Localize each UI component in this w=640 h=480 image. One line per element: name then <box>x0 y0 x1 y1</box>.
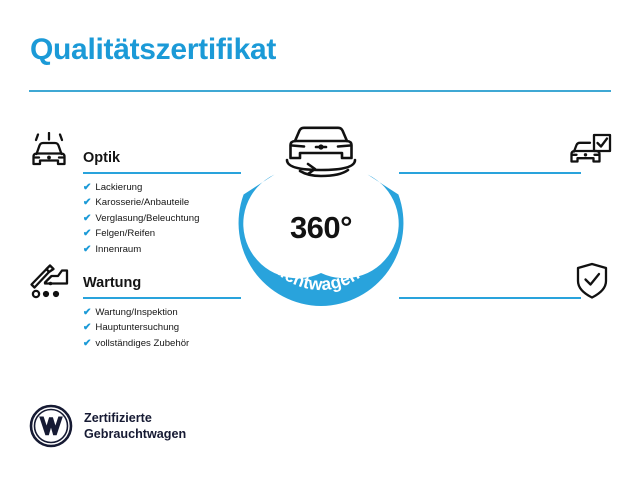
check-icon: ✔ <box>83 228 91 239</box>
list-item: ✔Verglasung/Beleuchtung <box>83 211 199 226</box>
car-service-tool-icon <box>25 260 73 307</box>
badge-degrees-label: 360° <box>228 210 414 246</box>
list-item: ✔Wartung/Inspektion <box>83 305 189 320</box>
check-icon: ✔ <box>83 244 91 255</box>
title-divider <box>29 90 611 92</box>
list-item-label: Wartung/Inspektion <box>95 307 177 318</box>
list-item: ✔Lackierung <box>83 180 199 195</box>
list-item-label: Innenraum <box>95 244 141 255</box>
list-item-label: Hauptuntersuchung <box>95 322 179 333</box>
vw-logo <box>29 404 73 453</box>
list-item: ✔Hauptuntersuchung <box>83 320 189 335</box>
list-item-label: Felgen/Reifen <box>95 228 155 239</box>
360-grad-check-badge: Gebrauchtwagen-Check 360° <box>228 118 414 306</box>
footer-line-1: Zertifizierte <box>84 410 186 426</box>
list-item: ✔Felgen/Reifen <box>83 226 199 241</box>
car-shine-icon <box>25 132 73 179</box>
shield-check-icon <box>570 260 614 307</box>
check-icon: ✔ <box>83 182 91 193</box>
list-item-label: Karosserie/Anbauteile <box>95 197 189 208</box>
check-icon: ✔ <box>83 307 91 318</box>
check-icon: ✔ <box>83 197 91 208</box>
list-item: ✔Innenraum <box>83 242 199 257</box>
section-divider-technik <box>399 172 581 174</box>
section-divider-garantie <box>399 297 581 299</box>
list-item: ✔Karosserie/Anbauteile <box>83 195 199 210</box>
list-item-label: Lackierung <box>95 182 142 193</box>
checklist-optik: ✔Lackierung ✔Karosserie/Anbauteile ✔Verg… <box>83 180 199 257</box>
check-icon: ✔ <box>83 322 91 333</box>
check-icon: ✔ <box>83 213 91 224</box>
page-title: Qualitätszertifikat <box>30 33 276 67</box>
checklist-wartung: ✔Wartung/Inspektion ✔Hauptuntersuchung ✔… <box>83 305 189 351</box>
list-item-label: Verglasung/Beleuchtung <box>95 213 199 224</box>
section-divider-wartung <box>83 297 241 299</box>
qualitaetszertifikat-page: Qualitätszertifikat Optik ✔Lackierung <box>0 0 640 480</box>
section-heading-optik: Optik <box>83 150 120 166</box>
list-item: ✔vollständiges Zubehör <box>83 336 189 351</box>
footer-text: Zertifizierte Gebrauchtwagen <box>84 410 186 442</box>
footer-line-2: Gebrauchtwagen <box>84 426 186 442</box>
list-item-label: vollständiges Zubehör <box>95 338 189 349</box>
section-heading-wartung: Wartung <box>83 275 141 291</box>
section-divider-optik <box>83 172 241 174</box>
check-icon: ✔ <box>83 338 91 349</box>
